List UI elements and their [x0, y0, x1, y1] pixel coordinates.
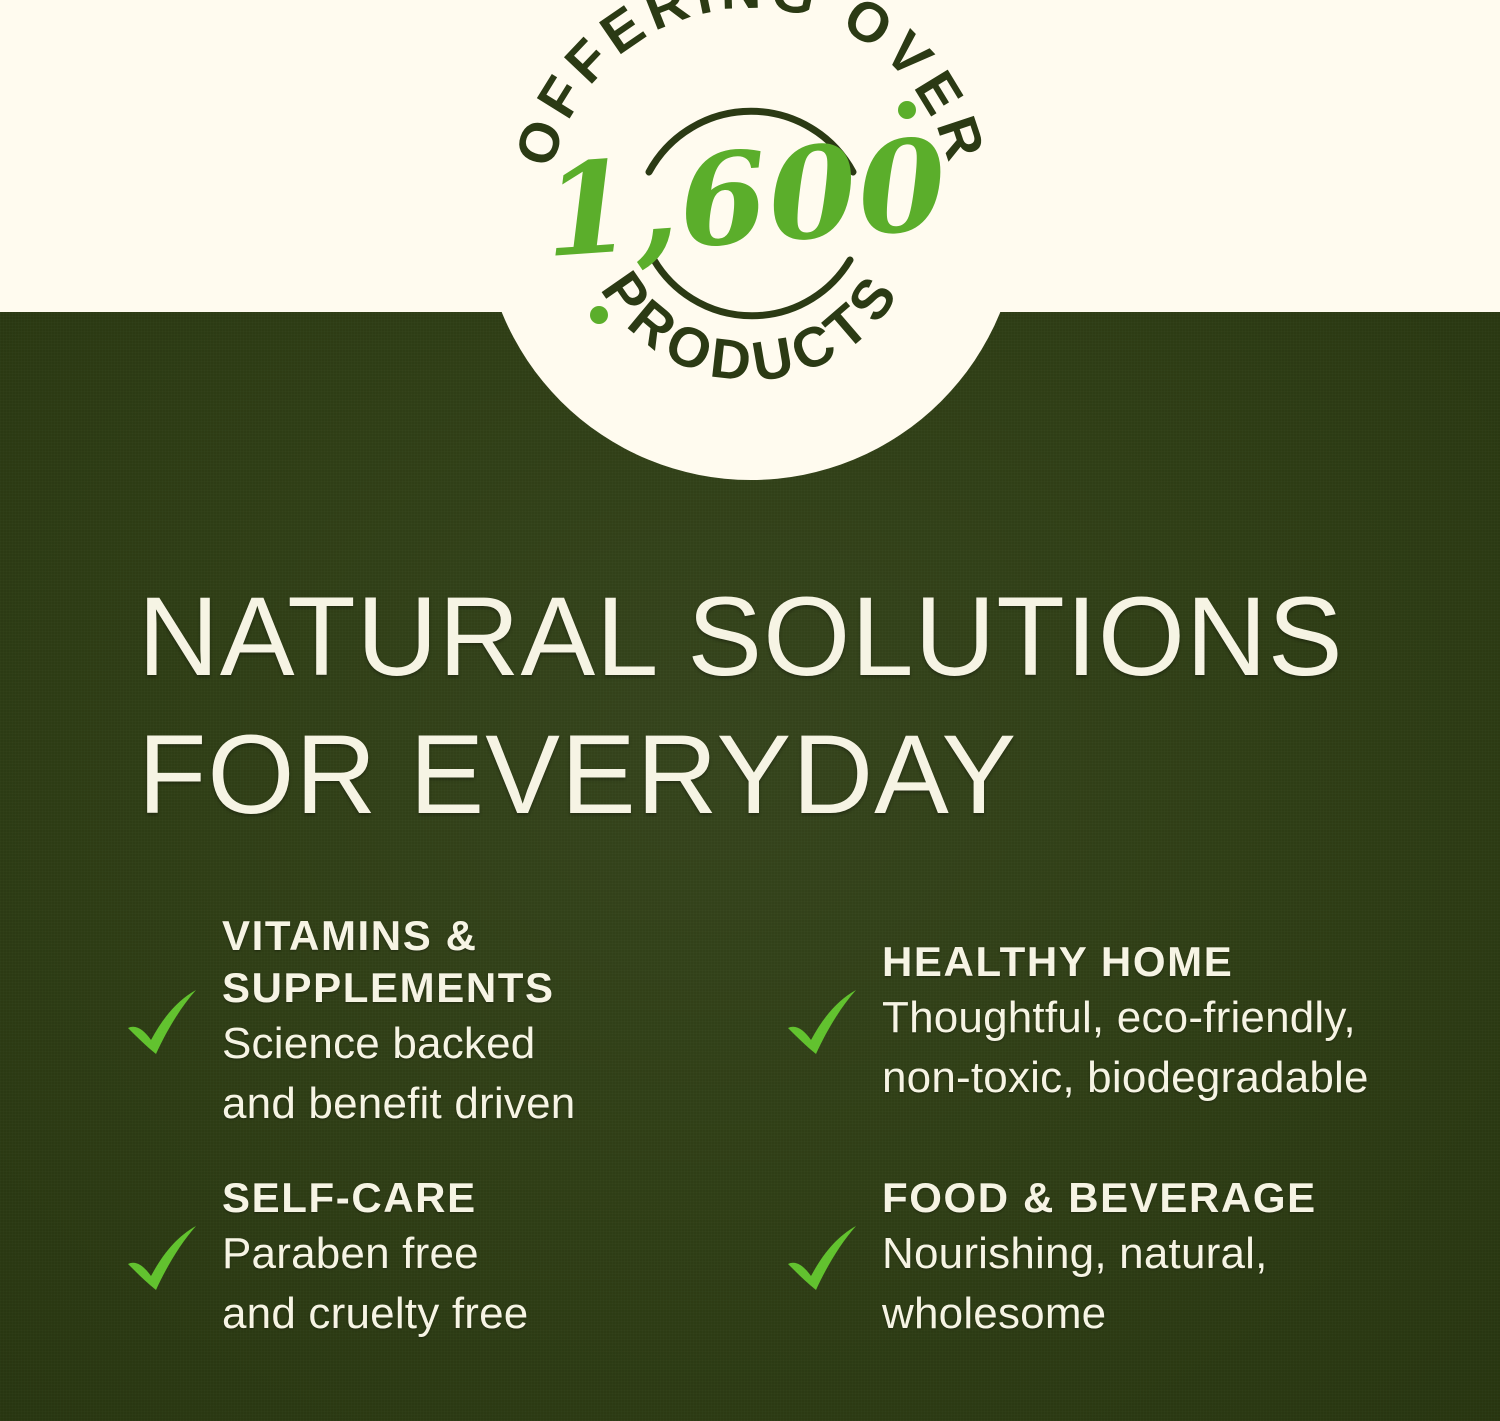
check-icon — [120, 1218, 206, 1304]
feature-title: SELF-CARE — [222, 1172, 780, 1224]
feature-text-block: SELF-CARE Paraben free and cruelty free — [222, 1172, 780, 1344]
feature-description: Nourishing, natural, wholesome — [882, 1224, 1420, 1344]
check-icon — [120, 982, 206, 1068]
feature-text-block: HEALTHY HOME Thoughtful, eco-friendly, n… — [882, 936, 1420, 1108]
feature-title: FOOD & BEVERAGE — [882, 1172, 1420, 1224]
promo-banner: OFFERING OVER PRODUCTS 1,600 NATURAL SOL… — [0, 0, 1500, 1421]
feature-healthy-home: HEALTHY HOME Thoughtful, eco-friendly, n… — [780, 872, 1420, 1172]
page-title: NATURAL SOLUTIONS FOR EVERYDAY — [138, 568, 1398, 844]
feature-title: HEALTHY HOME — [882, 936, 1420, 988]
feature-text-block: FOOD & BEVERAGE Nourishing, natural, who… — [882, 1172, 1420, 1344]
check-icon — [780, 982, 866, 1068]
feature-description: Thoughtful, eco-friendly, non-toxic, bio… — [882, 988, 1420, 1108]
offering-products-badge: OFFERING OVER PRODUCTS 1,600 — [482, 0, 1020, 480]
feature-grid: VITAMINS & SUPPLEMENTS Science backed an… — [120, 872, 1420, 1344]
feature-description: Paraben free and cruelty free — [222, 1224, 780, 1344]
badge-arc-bottom-text: PRODUCTS — [590, 260, 913, 394]
feature-vitamins-supplements: VITAMINS & SUPPLEMENTS Science backed an… — [120, 872, 780, 1172]
check-icon — [780, 1218, 866, 1304]
feature-title: VITAMINS & SUPPLEMENTS — [222, 910, 780, 1014]
badge-dot-left-icon — [590, 306, 608, 324]
badge-count: 1,600 — [539, 110, 953, 286]
feature-text-block: VITAMINS & SUPPLEMENTS Science backed an… — [222, 910, 780, 1134]
feature-food-beverage: FOOD & BEVERAGE Nourishing, natural, who… — [780, 1172, 1420, 1344]
feature-self-care: SELF-CARE Paraben free and cruelty free — [120, 1172, 780, 1344]
feature-description: Science backed and benefit driven — [222, 1014, 780, 1134]
